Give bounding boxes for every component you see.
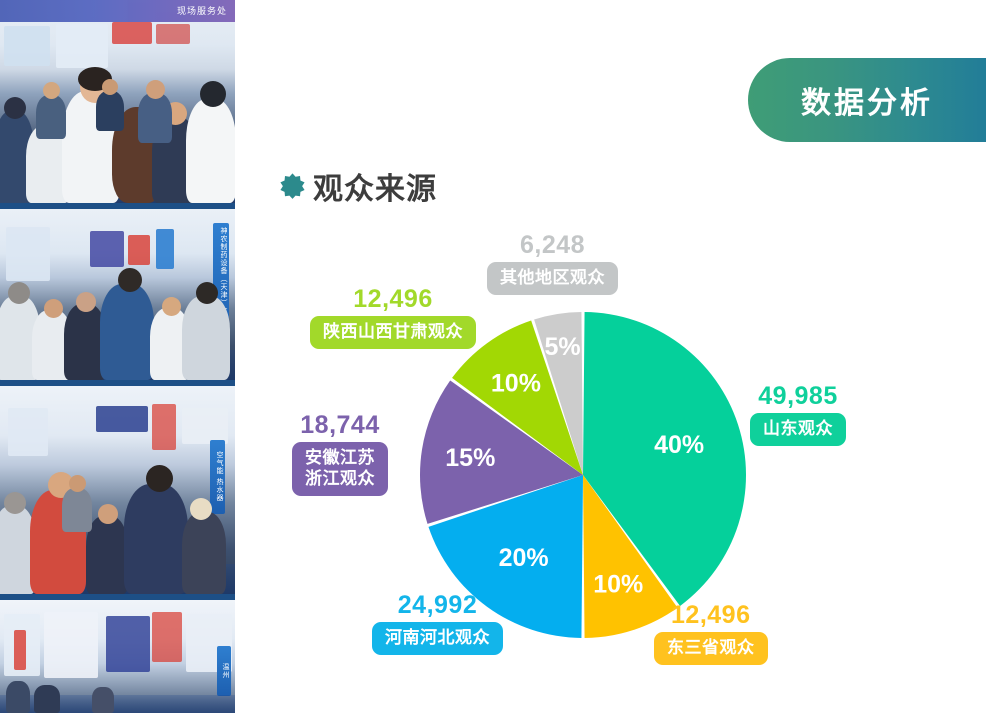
header-banner: 数据分析 [748, 58, 986, 142]
photo-banner-text-4: 温州 [217, 646, 231, 696]
callout-henan-value: 24,992 [398, 592, 477, 618]
callout-shaanxi-label: 陕西山西甘肃观众 [310, 316, 476, 349]
pie-percent-label-1: 10% [593, 571, 643, 599]
photo-booths-wide: 温州 [0, 600, 235, 713]
pie-percent-label-3: 15% [445, 444, 495, 472]
pie-percent-label-4: 10% [491, 370, 541, 398]
section-title: 观众来源 [279, 164, 437, 208]
section-title-text: 观众来源 [313, 164, 437, 208]
callout-northeast-three-provinces[interactable]: 12,496 东三省观众 [654, 602, 768, 665]
callout-other-regions[interactable]: 6,248 其他地区观众 [487, 232, 618, 295]
pie-percent-label-0: 40% [654, 431, 704, 459]
photo-hall-visitors: 空气能 热水器 [0, 386, 235, 594]
callout-anhui-label: 安徽江苏 浙江观众 [292, 442, 388, 495]
callout-shandong-label: 山东观众 [750, 413, 846, 446]
pie-percent-label-2: 20% [499, 544, 549, 572]
photo-strip: 现场服务处 [0, 0, 235, 713]
callout-other-label: 其他地区观众 [487, 262, 618, 295]
callout-shaanxi-shanxi-gansu[interactable]: 12,496 陕西山西甘肃观众 [310, 286, 476, 349]
photo-banner-text-1: 现场服务处 [0, 0, 235, 22]
header-banner-title: 数据分析 [801, 78, 933, 122]
photo-banner-text-3: 空气能 热水器 [210, 440, 225, 514]
star-burst-icon [279, 173, 306, 200]
pie-slices [420, 312, 746, 638]
callout-dongsan-value: 12,496 [671, 602, 750, 628]
callout-anhui-jiangsu-zhejiang[interactable]: 18,744 安徽江苏 浙江观众 [292, 412, 388, 496]
photo-exhibition-entrance: 现场服务处 [0, 0, 235, 203]
callout-dongsan-label: 东三省观众 [654, 632, 768, 665]
slide-page: 现场服务处 [0, 0, 986, 713]
callout-shaanxi-value: 12,496 [353, 286, 432, 312]
callout-shandong-value: 49,985 [758, 383, 837, 409]
callout-shandong[interactable]: 49,985 山东观众 [750, 383, 846, 446]
callout-henan-hebei[interactable]: 24,992 河南河北观众 [372, 592, 503, 655]
photo-hall-aisle: 神农制药设备（天津）有限公司 [0, 209, 235, 380]
callout-anhui-value: 18,744 [300, 412, 379, 438]
callout-other-value: 6,248 [520, 232, 585, 258]
pie-percent-label-5: 5% [545, 333, 581, 361]
callout-henan-label: 河南河北观众 [372, 622, 503, 655]
